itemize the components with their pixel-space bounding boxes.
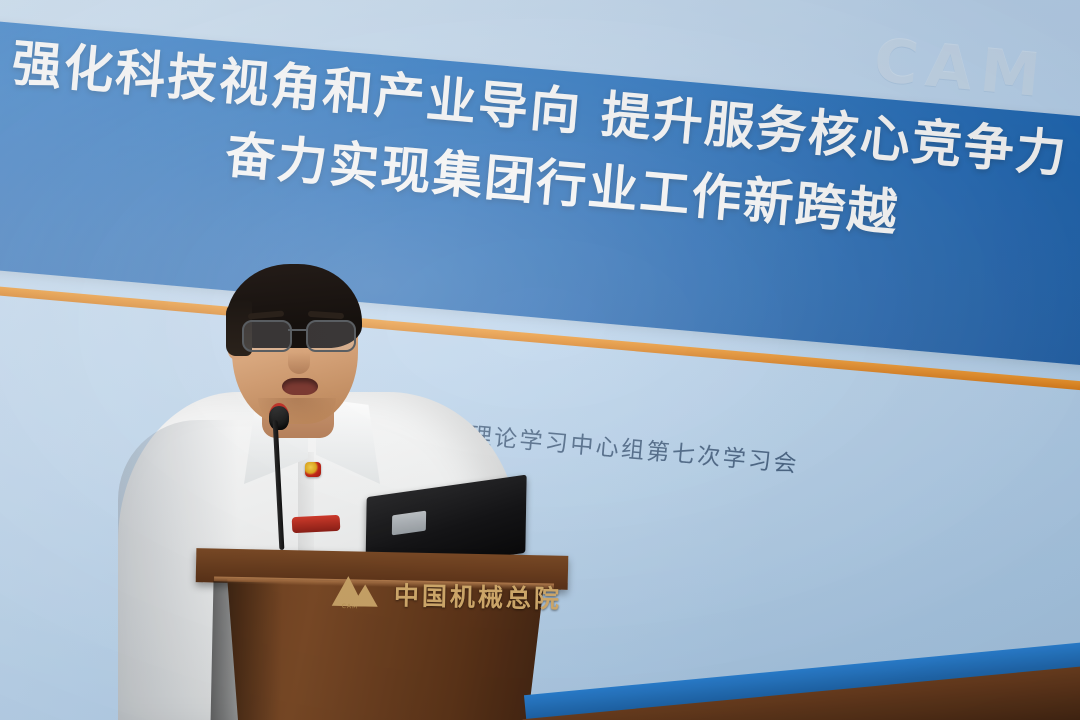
lectern-label: 中国机械总院 [394,576,563,616]
presentation-photo: 机械科学研究总院集团 China Academy of Machinery Sc… [0,0,1080,720]
glasses-bridge [288,329,308,331]
glasses-lens-left [242,320,292,352]
mountain-logo-icon: CAM [332,576,385,611]
microphone-base [292,515,341,533]
glasses-lens-right [306,320,356,352]
mountain-logo-caption: CAM [342,603,359,610]
glasses-icon [240,320,356,350]
lectern-side-shadow [211,581,284,720]
lectern-branding: CAM 中国机械总院 [332,570,543,620]
speaker-mouth [282,378,318,395]
speaker-nose [288,352,310,374]
party-emblem-pin-icon [305,462,321,477]
